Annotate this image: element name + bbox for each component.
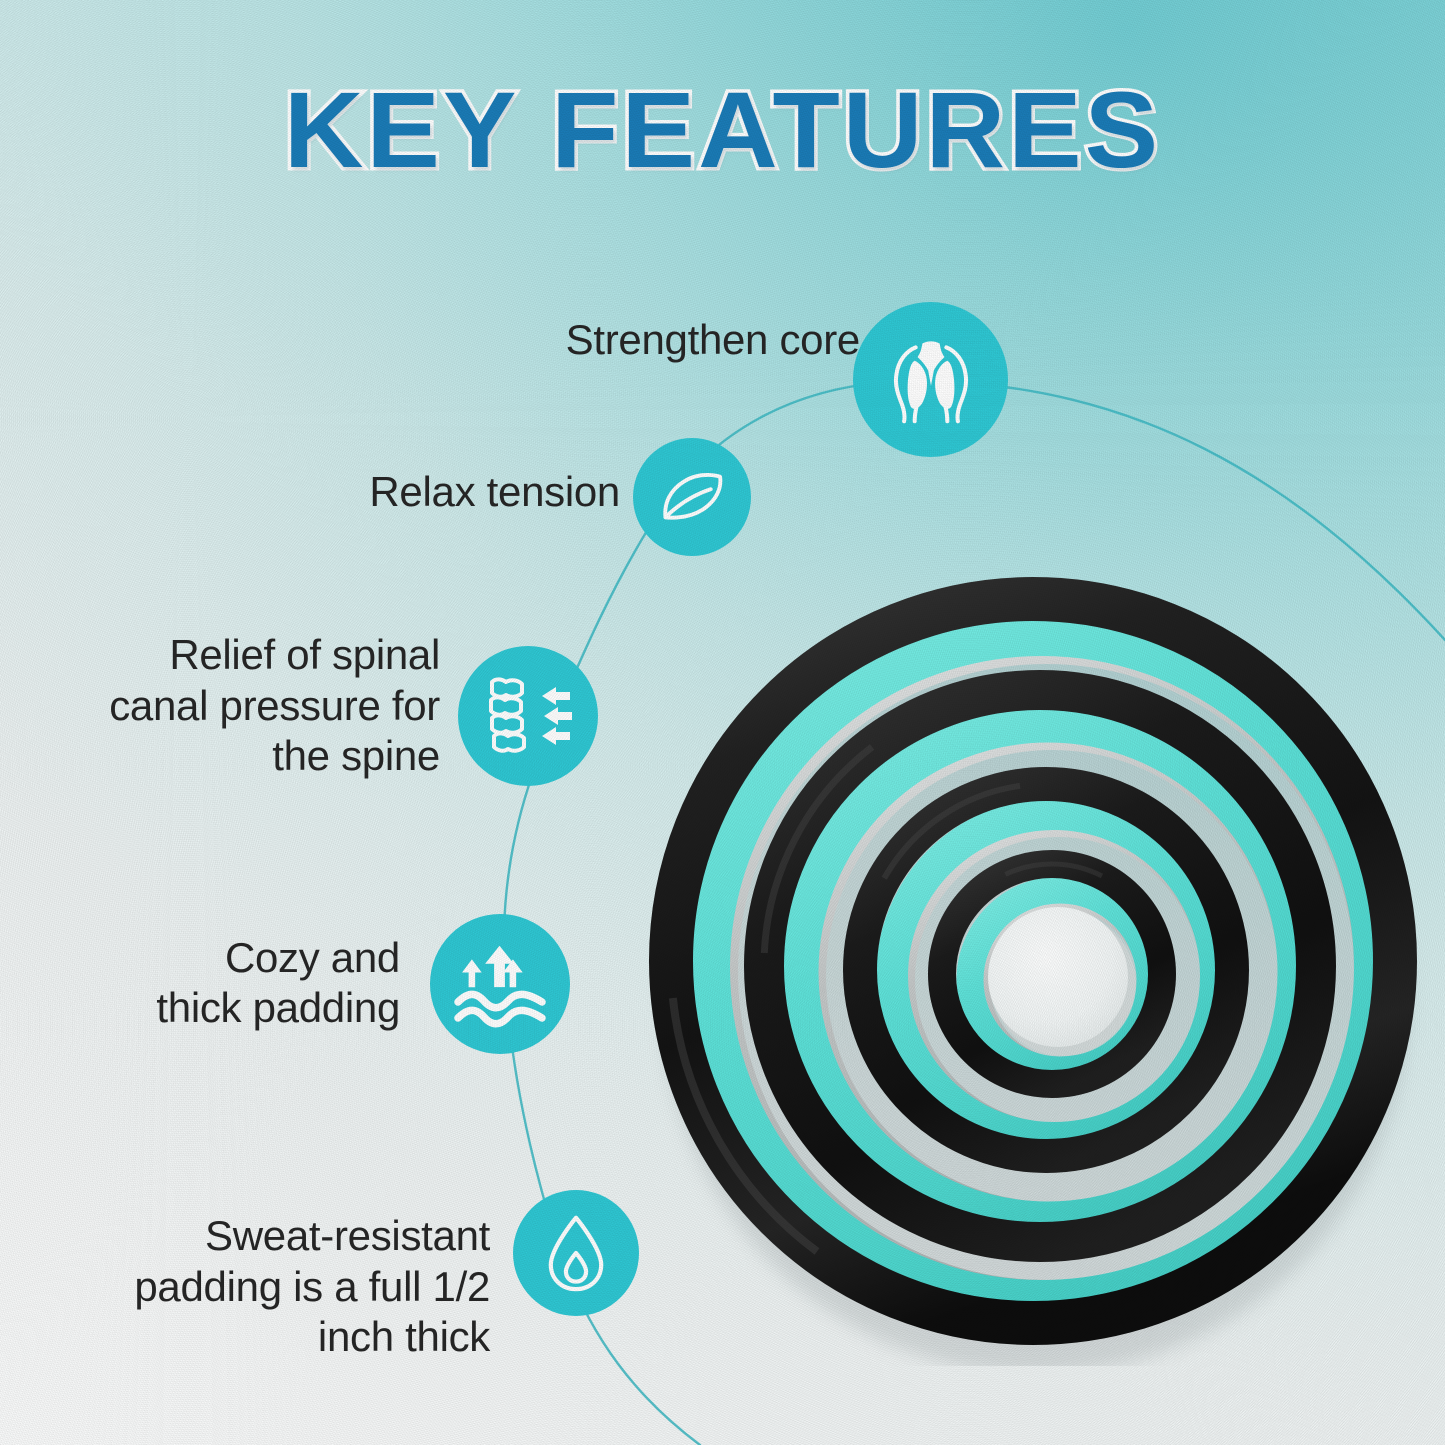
feature-relax-tension: Relax tension (100, 452, 620, 532)
spine-pressure-icon-glyph (478, 666, 578, 766)
product-nested-ab-roller-wheels (628, 556, 1438, 1366)
infographic-canvas: KEY FEATURES Strengthen core Re (0, 0, 1445, 1445)
torso-abs-icon-glyph (883, 332, 979, 428)
water-drop-icon-glyph (534, 1211, 618, 1295)
product-illustration (628, 556, 1438, 1366)
feature-thick-padding: Cozy and thick padding (90, 918, 400, 1048)
feature-spinal-relief: Relief of spinal canal pressure for the … (40, 616, 440, 796)
feature-label-strengthen-core: Strengthen core (566, 315, 860, 365)
feature-label-thick-padding: Cozy and thick padding (156, 933, 400, 1034)
leaf-icon-glyph (653, 458, 731, 536)
breathable-waves-icon[interactable] (430, 914, 570, 1054)
feature-label-sweat-resistant: Sweat-resistant padding is a full 1/2 in… (134, 1211, 490, 1362)
spine-pressure-icon[interactable] (458, 646, 598, 786)
feature-sweat-resistant: Sweat-resistant padding is a full 1/2 in… (60, 1192, 490, 1382)
feature-strengthen-core: Strengthen core (300, 300, 860, 380)
leaf-icon[interactable] (633, 438, 751, 556)
torso-abs-icon[interactable] (853, 302, 1008, 457)
water-drop-icon[interactable] (513, 1190, 639, 1316)
feature-label-relax-tension: Relax tension (369, 467, 620, 517)
breathable-waves-icon-glyph (450, 934, 550, 1034)
feature-label-spinal-relief: Relief of spinal canal pressure for the … (109, 630, 440, 781)
page-title: KEY FEATURES (0, 76, 1445, 184)
